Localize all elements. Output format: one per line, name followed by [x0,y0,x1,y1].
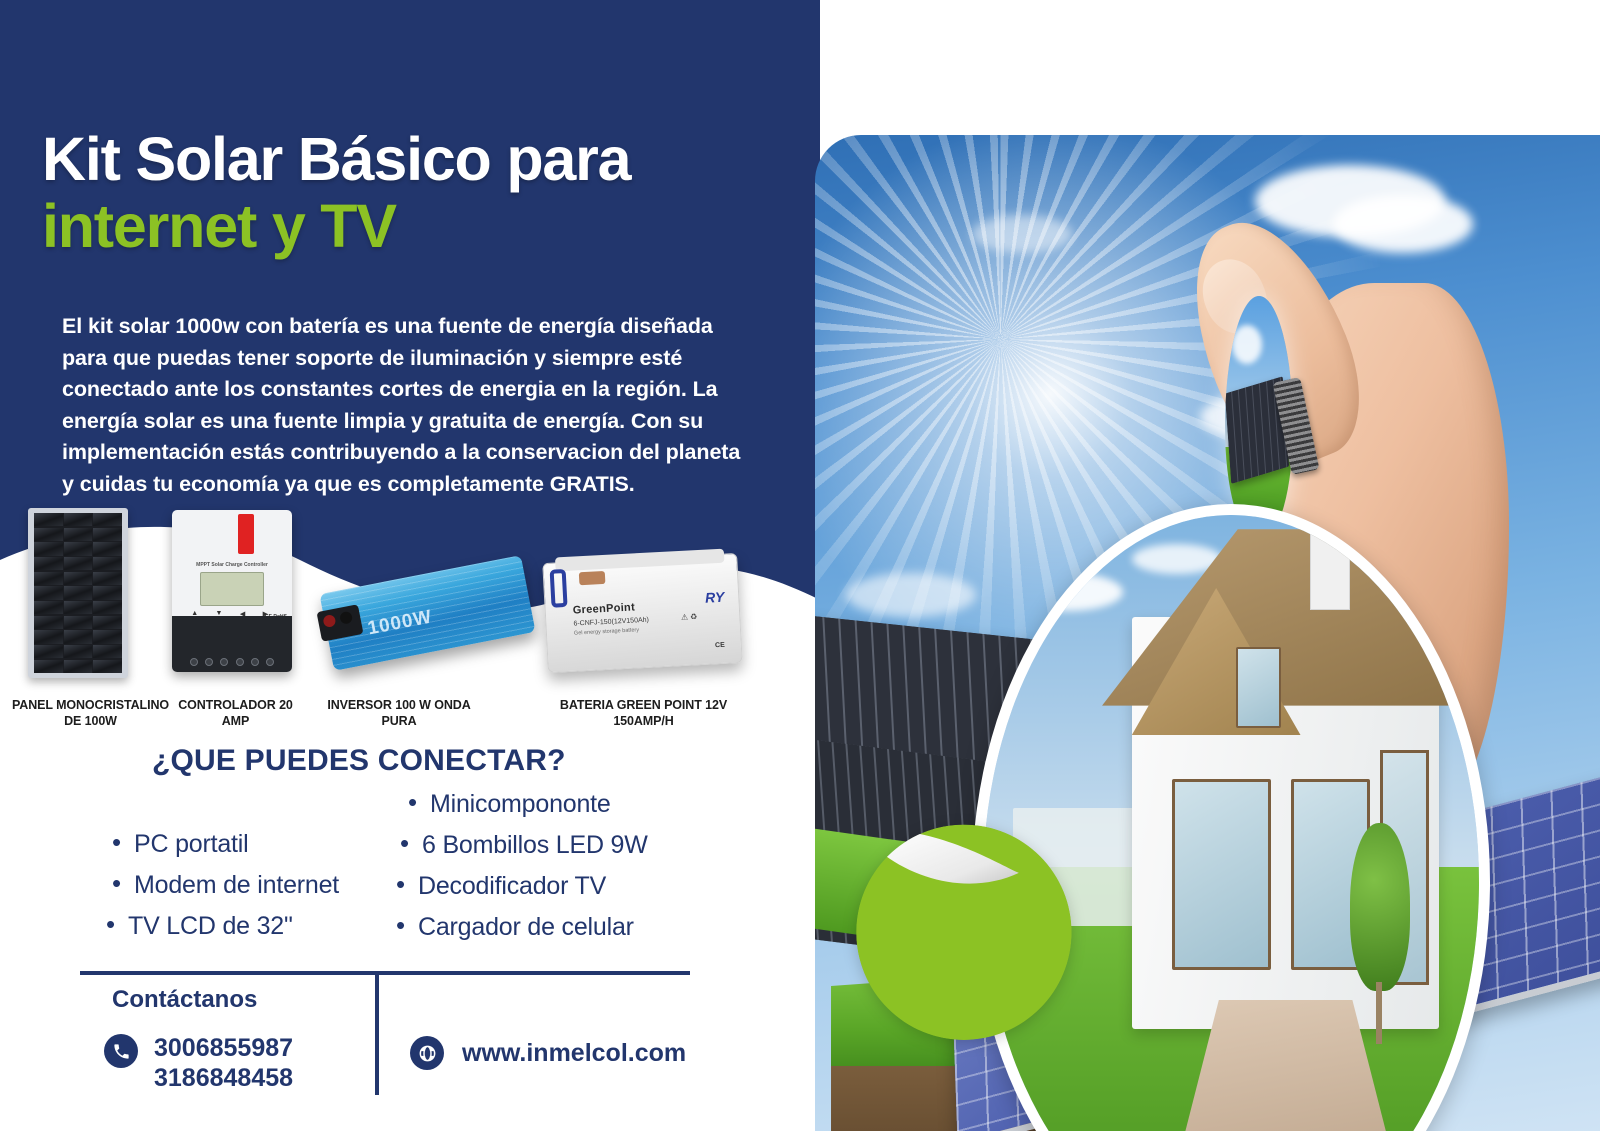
product-solar-panel [28,508,128,678]
website-url: www.inmelcol.com [462,1039,686,1068]
battery-handle [550,569,568,608]
title-line-2: internet y TV [42,194,782,260]
product-battery: GreenPoint 6-CNFJ-150(12V150Ah) Gel ener… [545,558,740,668]
tree-trunk [1376,982,1382,1044]
intro-paragraph: El kit solar 1000w con batería es una fu… [62,311,752,501]
list-item: Minicompononte [430,790,611,819]
battery-body: GreenPoint 6-CNFJ-150(12V150Ah) Gel ener… [542,553,742,673]
list-item: TV LCD de 32" [128,912,293,941]
controller-body: MPPT Solar Charge Controller ▲▼◀▶ CE RoH… [172,510,292,672]
caption-solar-panel: PANEL MONOCRISTALINO DE 100W [8,697,173,729]
battery-terminal [579,571,606,585]
page-title: Kit Solar Básico para internet y TV [42,128,782,260]
connect-device-list: PC portatil Modem de internet TV LCD de … [100,786,720,956]
controller-terminal-ports [186,658,277,666]
tree-crown [1350,823,1410,991]
panel-frame [28,508,128,678]
hero-photo-composition [815,135,1600,1131]
product-charge-controller: MPPT Solar Charge Controller ▲▼◀▶ CE RoH… [172,510,292,672]
controller-lcd-screen [200,572,265,606]
battery-ce-mark: CE [715,642,725,649]
list-item: Cargador de celular [418,913,634,942]
phone-icon [104,1034,138,1068]
product-inverter: 1000W [325,560,530,665]
product-captions: PANEL MONOCRISTALINO DE 100W CONTROLADOR… [0,697,790,747]
house-chimney [1310,507,1350,610]
battery-model-text: 6-CNFJ-150(12V150Ah) [573,617,649,628]
panel-cells [34,513,122,673]
caption-inverter: INVERSOR 100 W ONDA PURA [310,697,488,729]
inverter-watt-label: 1000W [366,606,434,640]
battery-brand-text: GreenPoint [572,601,635,616]
phone-numbers: 3006855987 3186848458 [154,1034,293,1093]
cloud-icon [1013,573,1123,611]
caption-charge-controller: CONTROLADOR 20 AMP [168,697,303,729]
connect-heading: ¿QUE PUEDES CONECTAR? [152,744,566,778]
tree-icon [1350,823,1410,1043]
globe-icon [410,1036,444,1070]
flyer-root: Kit Solar Básico para internet y TV El k… [0,0,1600,1131]
phone-number-secondary: 3186848458 [154,1064,293,1092]
house-window [1236,647,1281,728]
contact-divider-horizontal [80,971,690,975]
battery-symbol-marks: ⚠♻ [681,612,700,622]
house-window [1172,779,1271,970]
contact-website-block[interactable]: www.inmelcol.com [410,1036,686,1070]
title-line-1: Kit Solar Básico para [42,128,782,190]
list-item: PC portatil [134,830,249,859]
list-item: Decodificador TV [418,872,606,901]
battery-logo-text: RY [705,589,725,606]
list-item: Modem de internet [134,871,339,900]
battery-top-cap [555,549,725,572]
list-item: 6 Bombillos LED 9W [422,831,648,860]
phone-number-primary: 3006855987 [154,1034,293,1062]
contact-heading: Contáctanos [112,986,257,1014]
caption-battery: BATERIA GREEN POINT 12V 150AMP/H [556,697,731,729]
contact-divider-vertical [375,975,379,1095]
cloud-icon [972,215,1072,253]
controller-red-stripe [238,514,254,554]
controller-brand-text: MPPT Solar Charge Controller [172,562,292,568]
green-circle-sticker [854,753,1074,1112]
contact-phone-block[interactable]: 3006855987 3186848458 [104,1034,293,1093]
battery-subtitle-text: Gel energy storage battery [574,627,639,636]
